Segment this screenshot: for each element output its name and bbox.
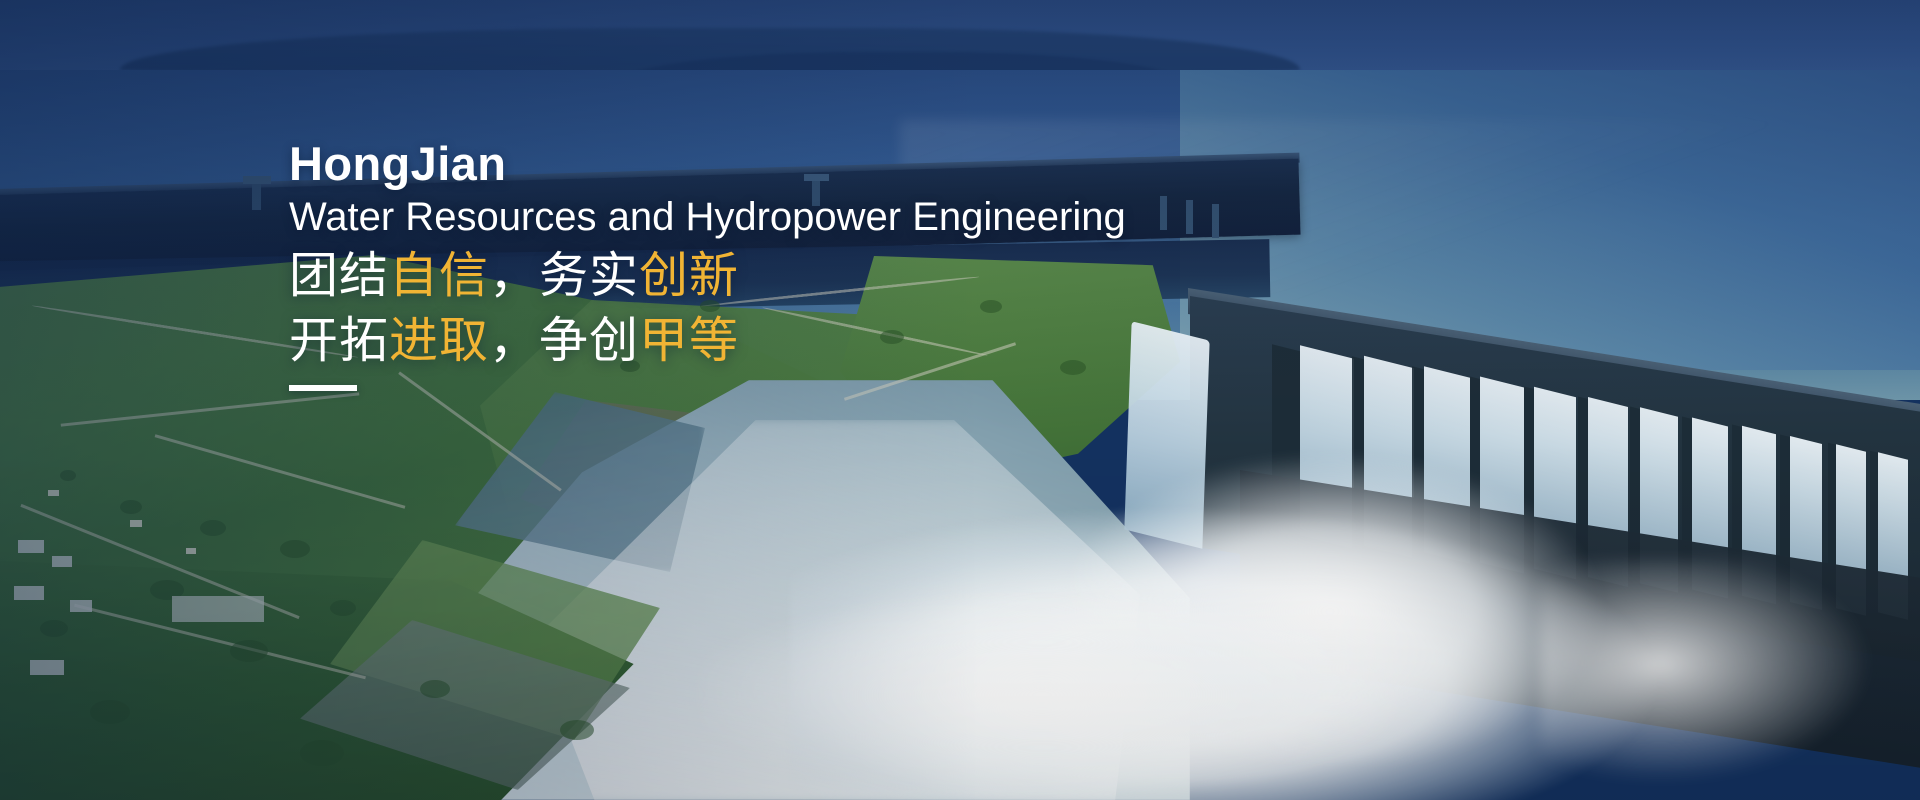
slogan-line-2: 开拓进取，争创甲等 [289, 309, 1489, 374]
slogan-segment-plain: 开拓 [289, 314, 389, 368]
brand-subtitle: Water Resources and Hydropower Engineeri… [289, 194, 1489, 240]
slogan-segment-accent: 进取 [389, 314, 489, 368]
hero-banner: HongJian Water Resources and Hydropower … [0, 0, 1920, 800]
banner-text-overlay: HongJian Water Resources and Hydropower … [289, 140, 1489, 391]
slogan-segment-plain: ，务实 [489, 249, 639, 303]
slogan-segment-accent: 创新 [639, 249, 739, 303]
accent-underline-rule [289, 385, 357, 391]
brand-title: HongJian [289, 140, 1489, 188]
photo-color-grade [0, 0, 1920, 800]
slogan-segment-plain: 团结 [289, 249, 389, 303]
slogan-segment-accent: 甲等 [639, 314, 739, 368]
slogan-segment-plain: ，争创 [489, 314, 639, 368]
dam-photograph [0, 0, 1920, 800]
slogan-segment-accent: 自信 [389, 249, 489, 303]
slogan-line-1: 团结自信，务实创新 [289, 244, 1489, 309]
